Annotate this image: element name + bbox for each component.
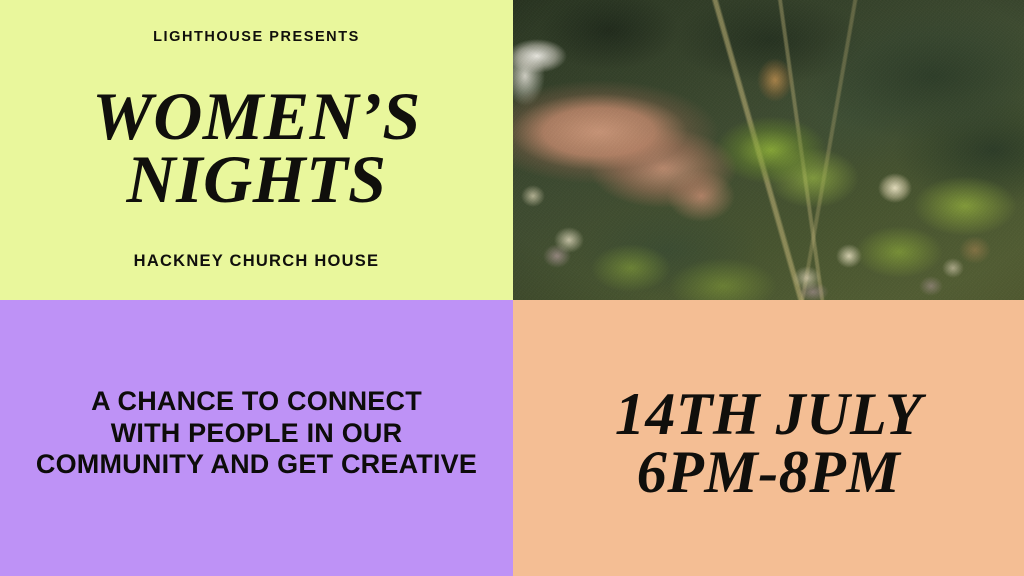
event-description-line-2: WITH PEOPLE IN OUR <box>36 418 477 450</box>
event-date: 14TH JULY <box>615 386 922 444</box>
page-title-line-1: WOMEN’S <box>92 85 420 149</box>
description-panel: A CHANCE TO CONNECT WITH PEOPLE IN OUR C… <box>0 300 513 576</box>
event-time: 6PM-8PM <box>615 444 922 502</box>
page-title-line-2: NIGHTS <box>92 148 420 212</box>
event-description-line-1: A CHANCE TO CONNECT <box>36 386 477 418</box>
presenter-kicker: LIGHTHOUSE PRESENTS <box>153 30 360 45</box>
hero-photo <box>513 0 1024 300</box>
foliage-photo-image <box>513 0 1024 300</box>
event-description-line-3: COMMUNITY AND GET CREATIVE <box>36 449 477 481</box>
datetime-panel: 14TH JULY 6PM-8PM <box>513 300 1024 576</box>
page-title: WOMEN’S NIGHTS <box>92 85 420 213</box>
venue-label: HACKNEY CHURCH HOUSE <box>0 253 513 270</box>
title-panel: LIGHTHOUSE PRESENTS WOMEN’S NIGHTS HACKN… <box>0 0 513 300</box>
event-datetime: 14TH JULY 6PM-8PM <box>615 386 922 501</box>
event-poster: LIGHTHOUSE PRESENTS WOMEN’S NIGHTS HACKN… <box>0 0 1024 576</box>
event-description: A CHANCE TO CONNECT WITH PEOPLE IN OUR C… <box>36 386 477 481</box>
